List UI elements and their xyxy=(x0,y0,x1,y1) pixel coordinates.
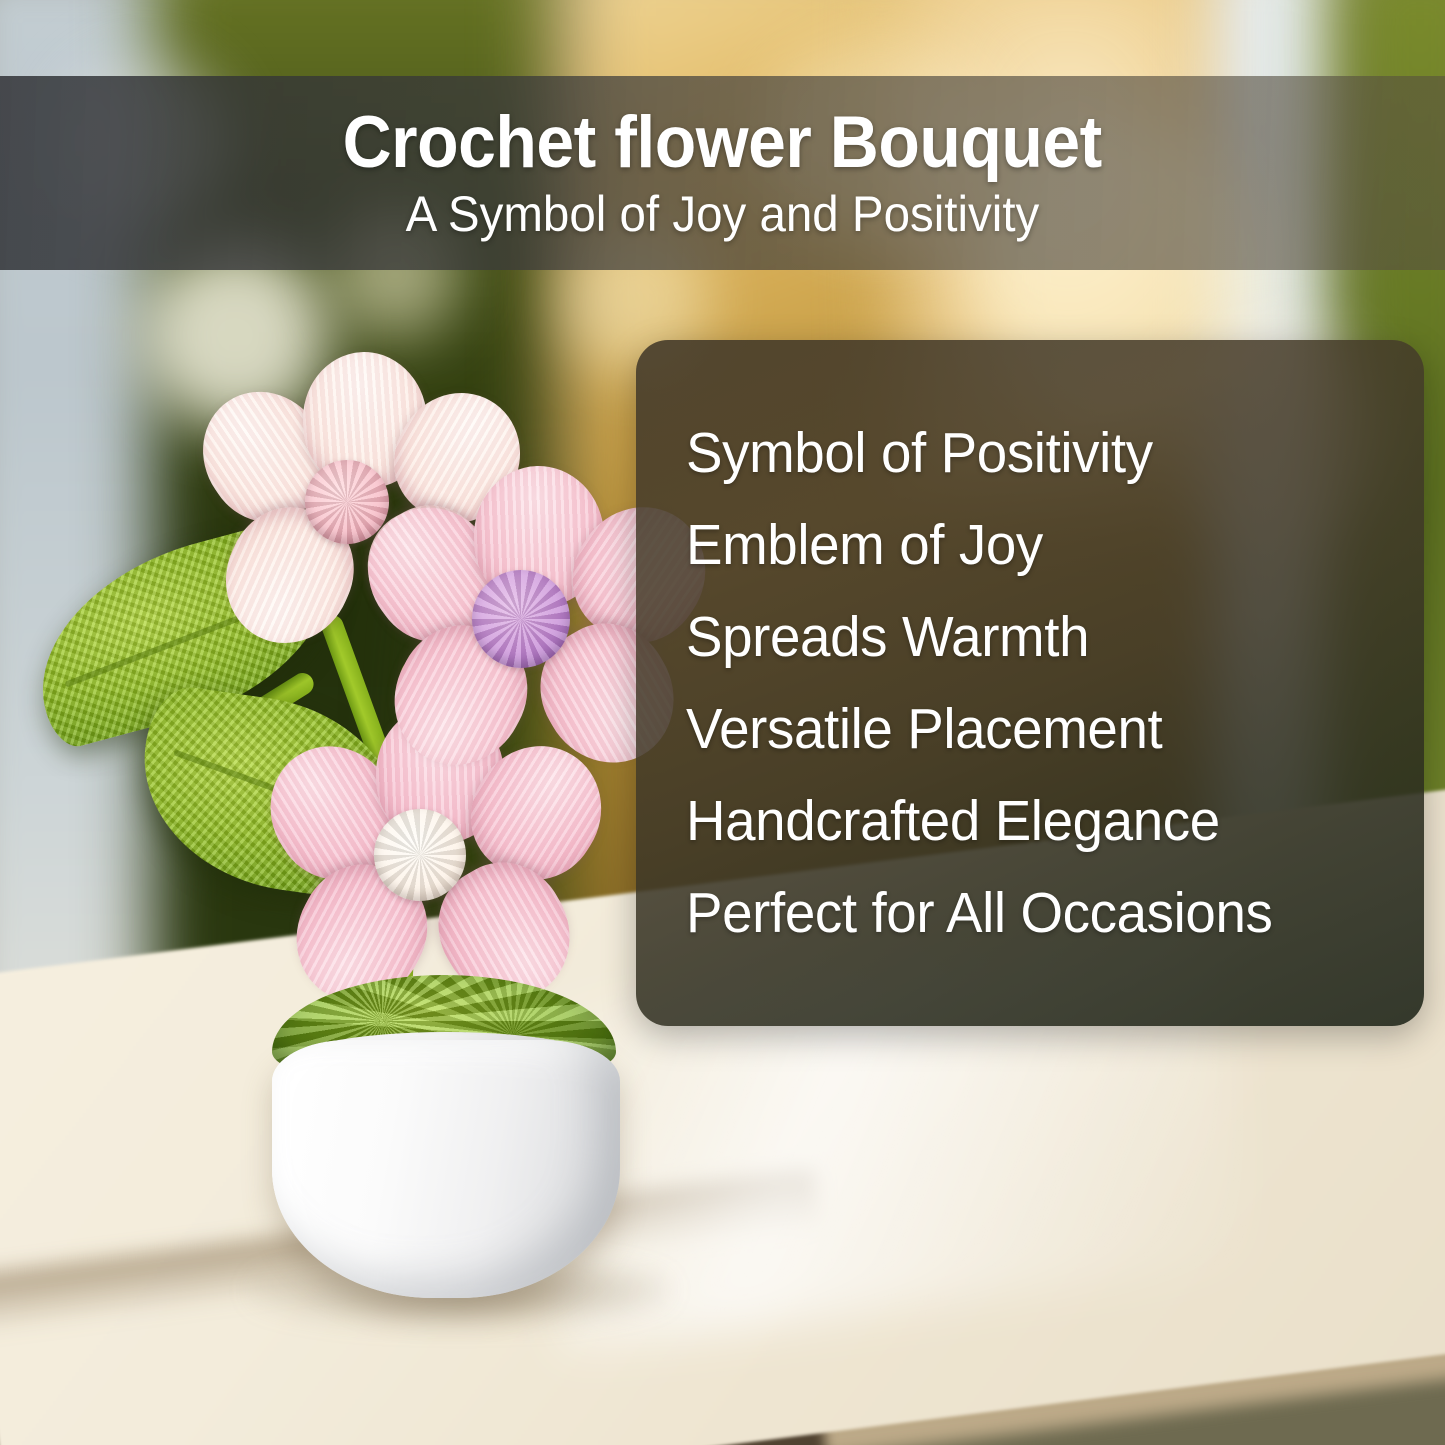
white-ceramic-pot xyxy=(272,1040,620,1298)
features-panel: Symbol of Positivity Emblem of Joy Sprea… xyxy=(636,340,1424,1026)
page-subtitle: A Symbol of Joy and Positivity xyxy=(406,188,1040,241)
feature-item: Perfect for All Occasions xyxy=(686,884,1394,942)
feature-item: Symbol of Positivity xyxy=(686,424,1394,482)
page-title: Crochet flower Bouquet xyxy=(343,106,1102,180)
header-banner: Crochet flower Bouquet A Symbol of Joy a… xyxy=(0,76,1445,270)
feature-item: Versatile Placement xyxy=(686,700,1394,758)
feature-item: Spreads Warmth xyxy=(686,608,1394,666)
flower-center xyxy=(374,809,466,901)
product-marketing-image: Crochet flower Bouquet A Symbol of Joy a… xyxy=(0,0,1445,1445)
flower-center xyxy=(472,570,570,668)
feature-item: Emblem of Joy xyxy=(686,516,1394,574)
flower-center xyxy=(305,460,389,544)
feature-item: Handcrafted Elegance xyxy=(686,792,1394,850)
